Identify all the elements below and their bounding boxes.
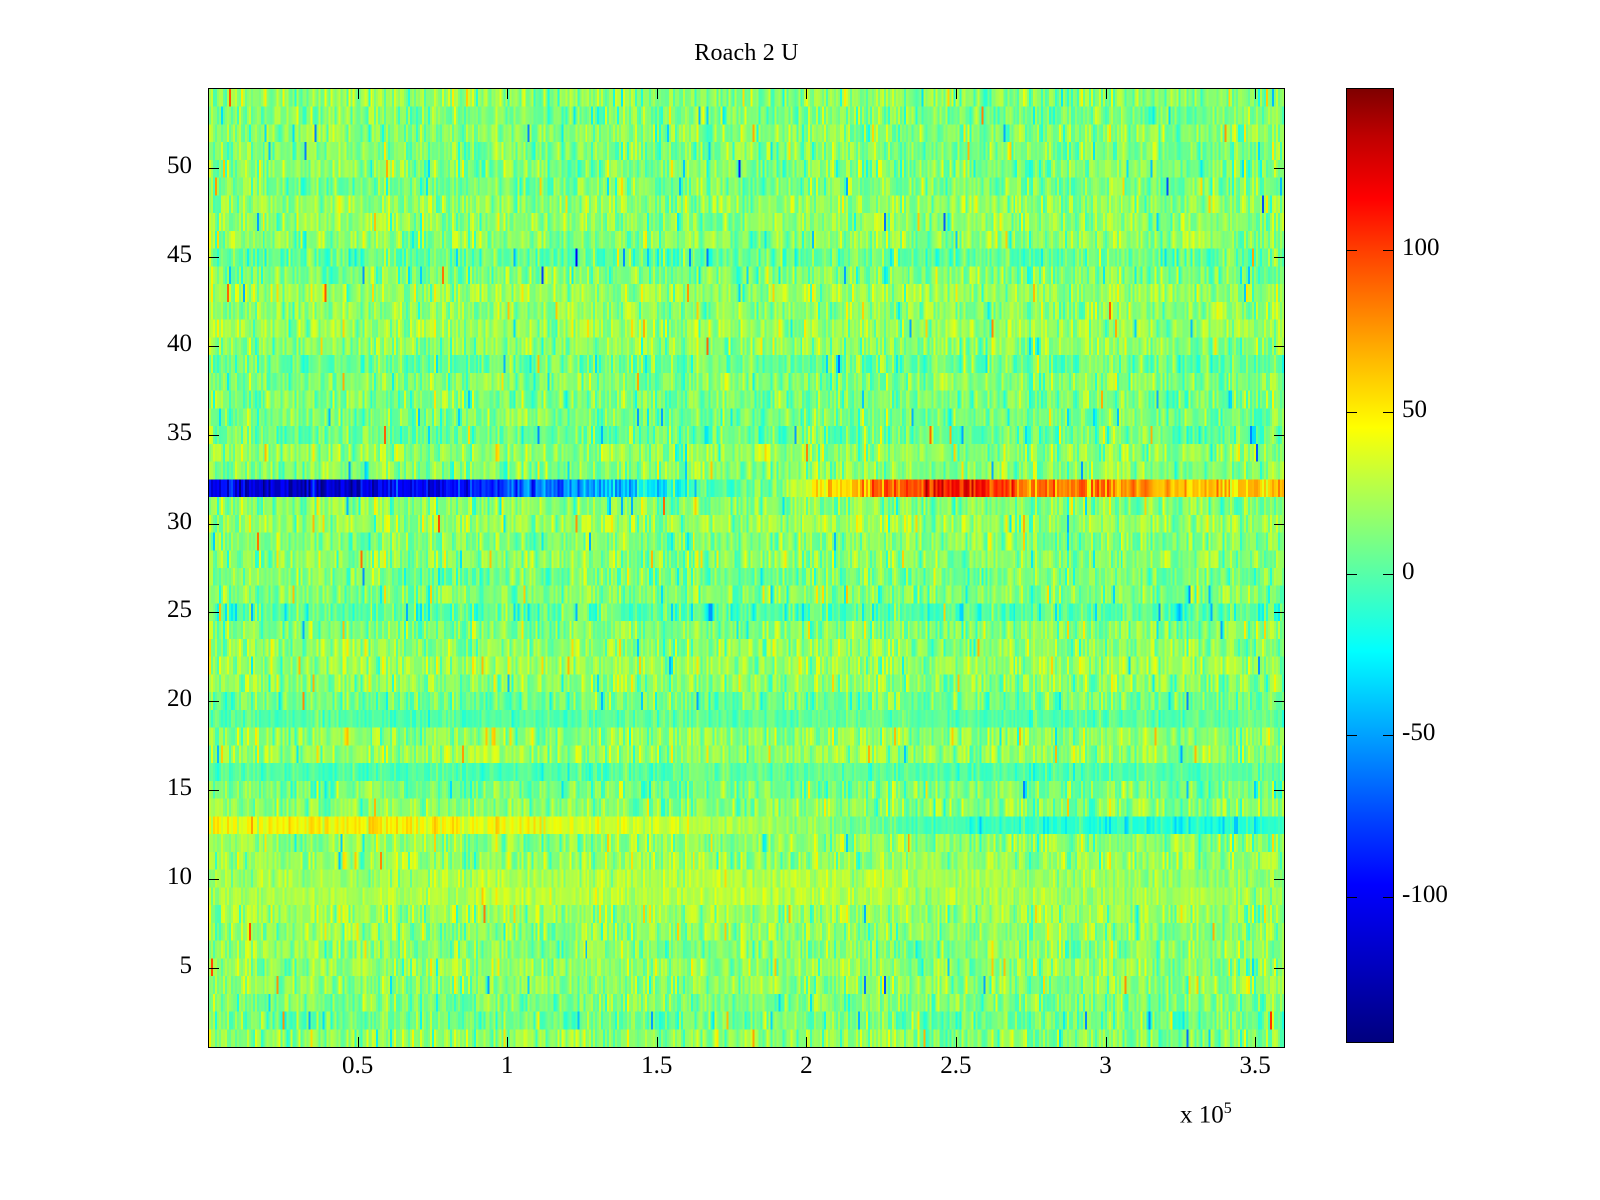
y-tick-label: 30: [122, 508, 192, 536]
y-tick-mark: [208, 879, 219, 880]
colorbar-tick-mark: [1346, 735, 1357, 736]
colorbar-tick-mark: [1346, 574, 1357, 575]
colorbar-tick-mark: [1383, 897, 1394, 898]
page-title: Roach 2 U: [208, 40, 1285, 67]
x-tick-mark: [806, 88, 807, 99]
colorbar-tick-label: 50: [1402, 396, 1427, 424]
colorbar-tick-label: -50: [1402, 719, 1435, 747]
y-tick-label: 25: [122, 596, 192, 624]
y-tick-mark: [208, 790, 219, 791]
x-tick-mark: [657, 1037, 658, 1048]
x-exponent-base: x 10: [1180, 1101, 1224, 1128]
y-tick-mark: [1274, 612, 1285, 613]
y-tick-mark: [1274, 257, 1285, 258]
y-tick-mark: [208, 701, 219, 702]
x-tick-mark: [1106, 88, 1107, 99]
colorbar-tick-mark: [1346, 897, 1357, 898]
x-tick-mark: [657, 88, 658, 99]
x-tick-mark: [507, 1037, 508, 1048]
y-tick-label: 5: [122, 952, 192, 980]
colorbar-gradient: [1347, 89, 1393, 1042]
colorbar-tick-mark: [1383, 250, 1394, 251]
y-tick-mark: [1274, 701, 1285, 702]
x-tick-mark: [956, 88, 957, 99]
matlab-figure-window: Roach 2 U 5101520253035404550 0.511.522.…: [0, 0, 1600, 1200]
x-tick-label: 0.5: [318, 1052, 398, 1080]
y-tick-mark: [208, 168, 219, 169]
heatmap-image: [209, 89, 1284, 1047]
y-tick-mark: [208, 435, 219, 436]
x-tick-label: 3: [1066, 1052, 1146, 1080]
y-tick-mark: [208, 968, 219, 969]
y-tick-mark: [208, 612, 219, 613]
y-tick-mark: [1274, 968, 1285, 969]
y-tick-mark: [1274, 346, 1285, 347]
y-tick-label: 35: [122, 419, 192, 447]
x-tick-mark: [1255, 1037, 1256, 1048]
x-tick-mark: [806, 1037, 807, 1048]
y-tick-label: 15: [122, 774, 192, 802]
y-tick-mark: [1274, 879, 1285, 880]
colorbar-tick-mark: [1346, 250, 1357, 251]
colorbar-tick-mark: [1346, 412, 1357, 413]
x-tick-mark: [1255, 88, 1256, 99]
x-tick-mark: [956, 1037, 957, 1048]
x-tick-label: 2: [766, 1052, 846, 1080]
x-axis-exponent-label: x 105: [1180, 1100, 1232, 1129]
x-tick-mark: [1106, 1037, 1107, 1048]
x-tick-label: 2.5: [916, 1052, 996, 1080]
x-tick-mark: [507, 88, 508, 99]
y-tick-mark: [1274, 168, 1285, 169]
x-tick-label: 1: [467, 1052, 547, 1080]
colorbar-tick-label: 0: [1402, 558, 1415, 586]
y-tick-label: 40: [122, 330, 192, 358]
y-tick-mark: [1274, 524, 1285, 525]
colorbar[interactable]: [1346, 88, 1394, 1043]
y-tick-mark: [1274, 790, 1285, 791]
y-tick-label: 45: [122, 241, 192, 269]
colorbar-tick-mark: [1383, 574, 1394, 575]
colorbar-tick-label: 100: [1402, 234, 1440, 262]
x-tick-mark: [358, 1037, 359, 1048]
y-tick-mark: [208, 524, 219, 525]
colorbar-tick-mark: [1383, 735, 1394, 736]
y-tick-mark: [208, 346, 219, 347]
heatmap-axes[interactable]: [208, 88, 1285, 1048]
x-tick-label: 3.5: [1215, 1052, 1295, 1080]
y-tick-mark: [1274, 435, 1285, 436]
y-tick-label: 50: [122, 152, 192, 180]
x-tick-mark: [358, 88, 359, 99]
y-tick-mark: [208, 257, 219, 258]
colorbar-tick-label: -100: [1402, 881, 1448, 909]
y-tick-label: 20: [122, 685, 192, 713]
colorbar-tick-mark: [1383, 412, 1394, 413]
x-exponent-power: 5: [1224, 1100, 1232, 1117]
y-tick-label: 10: [122, 863, 192, 891]
x-tick-label: 1.5: [617, 1052, 697, 1080]
